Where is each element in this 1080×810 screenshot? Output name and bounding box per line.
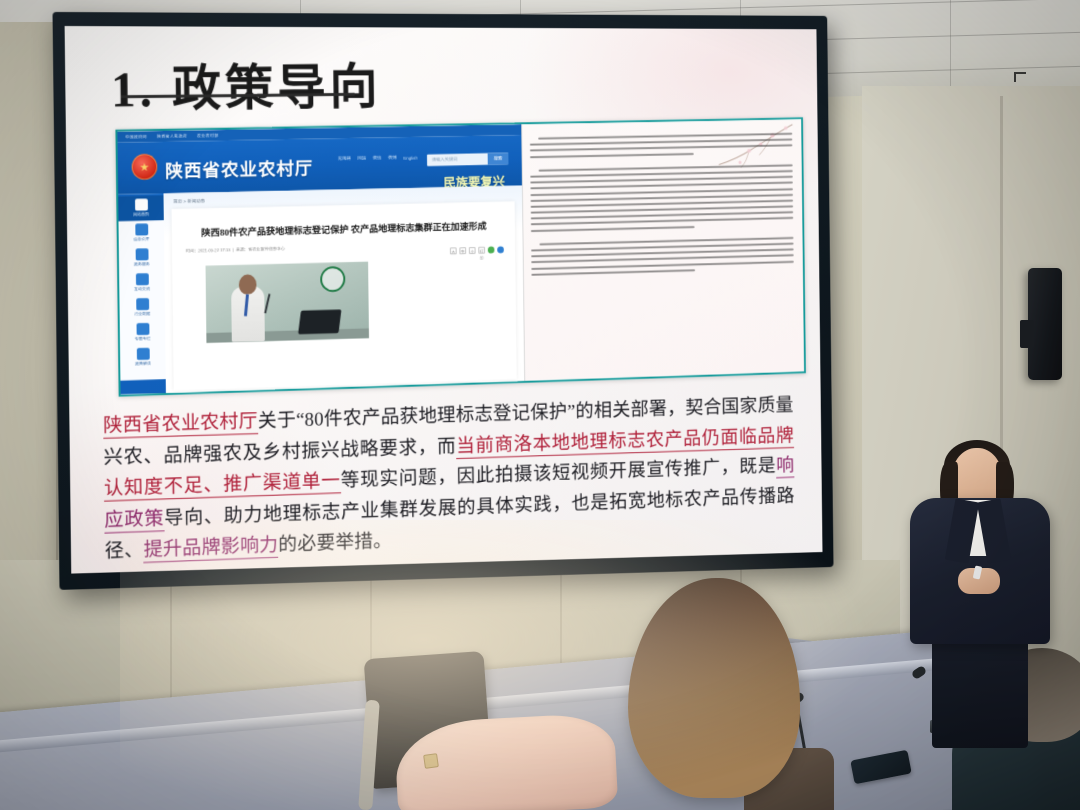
- article-photo: [206, 261, 369, 343]
- sidebar-item-home[interactable]: 网站首页: [118, 195, 164, 221]
- slide-text-segment-3: 等现实问题，因此拍摄该短视频开展宣传推广，既是: [341, 456, 777, 491]
- site-sidebar-nav: 网站首页 信息公开 政务服务: [118, 193, 166, 394]
- article-region: 首页 > 新闻动态 陕西80件农产品获地理标志登记保护 农产品地理标志集群正在加…: [163, 186, 524, 393]
- nav-mini-3[interactable]: 微博: [388, 155, 397, 161]
- sidebar-item-industry-data[interactable]: 行业数据: [119, 295, 165, 321]
- sidebar-item-label: 行业数据: [134, 311, 150, 317]
- folder-icon: [136, 323, 149, 335]
- topbar-link-1[interactable]: 陕西省人民政府: [157, 133, 187, 140]
- home-icon: [135, 199, 148, 211]
- ceiling-hook-icon: [1014, 72, 1026, 82]
- nav-mini-0[interactable]: 无障碍: [338, 156, 351, 162]
- article-source: 省农业宣传信息中心: [248, 246, 285, 252]
- sidebar-item-services[interactable]: 政务服务: [119, 245, 165, 271]
- sidebar-item-label: 政务服务: [134, 261, 150, 267]
- conference-room-scene: 1. 政策导向 中国政府网 陕西省人民政府 农业农村部: [0, 0, 1080, 810]
- font-size-medium-button[interactable]: 中: [459, 247, 466, 254]
- sidebar-item-topics[interactable]: 专题专栏: [120, 319, 166, 345]
- sidebar-item-label: 互动交流: [134, 286, 150, 292]
- sidebar-item-info-disclosure[interactable]: 信息公开: [118, 220, 164, 246]
- slide-body-text: 陕西省农业农村厅关于“80件农产品获地理标志登记保护”的相关部署，契合国家质量兴…: [103, 391, 795, 569]
- article-card: 陕西80件农产品获地理标志登记保护 农产品地理标志集群正在加速形成 时间：202…: [172, 201, 517, 390]
- attendee-hair: [628, 578, 800, 798]
- wall-display[interactable]: 1. 政策导向 中国政府网 陕西省人民政府 农业农村部: [52, 12, 833, 590]
- sidebar-item-label: 网站首页: [133, 212, 149, 218]
- website-left-column: 中国政府网 陕西省人民政府 农业农村部 陕西省农业农村厅 无障碍 网站: [117, 124, 524, 394]
- article-date-label: 时间：: [186, 248, 198, 253]
- slide-heading-wrap: 1. 政策导向: [110, 48, 381, 120]
- embedded-website-screenshot: 中国政府网 陕西省人民政府 农业农村部 陕西省农业农村厅 无障碍 网站: [115, 117, 805, 396]
- site-header: 陕西省农业农村厅 无障碍 网站 微信 微博 English 请输入关键词: [118, 135, 522, 194]
- speaker-head: [239, 274, 257, 294]
- page-title: 1. 政策导向: [110, 48, 381, 122]
- coat-tag: [423, 753, 439, 769]
- article-title: 陕西80件农产品获地理标志登记保护 农产品地理标志集群正在加速形成: [184, 221, 504, 242]
- wechat-icon[interactable]: [488, 247, 495, 254]
- nav-mini-4[interactable]: English: [403, 155, 417, 160]
- site-utility-nav: 无障碍 网站 微信 微博 English: [338, 155, 418, 162]
- article-date: 2021-09-22 17:13: [198, 248, 230, 254]
- laptop-icon: [298, 309, 341, 334]
- sidebar-item-label: 专题专栏: [135, 336, 151, 342]
- document-icon: [135, 224, 148, 236]
- site-search-box[interactable]: 请输入关键词 搜索: [427, 153, 509, 166]
- sidebar-item-label: 信息公开: [133, 236, 149, 242]
- article-source-label: 来源：: [236, 247, 248, 252]
- nav-mini-1[interactable]: 网站: [357, 156, 366, 162]
- sidebar-item-policy-interpretation[interactable]: 政策解读: [120, 344, 166, 370]
- topbar-link-2[interactable]: 农业农村部: [197, 132, 219, 138]
- print-button[interactable]: 打印: [478, 247, 485, 254]
- font-size-large-button[interactable]: 大: [450, 247, 457, 254]
- font-size-small-button[interactable]: 小: [469, 247, 476, 254]
- attendee-long-hair: [628, 578, 808, 810]
- briefcase-icon: [135, 248, 148, 260]
- microphone-icon: [264, 294, 270, 314]
- national-emblem-icon: [132, 154, 158, 180]
- book-icon: [136, 348, 149, 360]
- grid-icon: [136, 298, 149, 310]
- slide-text-segment-7: 的必要举措。: [278, 531, 392, 556]
- presenter-skirt: [932, 638, 1028, 748]
- breadcrumb[interactable]: 首页 > 新闻动态: [173, 198, 205, 205]
- presenter: [896, 440, 1080, 740]
- slide-text-segment-0: 陕西省农业农村厅: [103, 411, 258, 439]
- sidebar-item-interaction[interactable]: 互动交流: [119, 270, 165, 296]
- search-input-placeholder[interactable]: 请输入关键词: [427, 157, 457, 163]
- conference-logo-icon: [320, 266, 345, 292]
- article-toolbar: 大 中 小 打印: [450, 246, 504, 254]
- search-button[interactable]: 搜索: [488, 153, 509, 165]
- site-title: 陕西省农业农村厅: [165, 155, 313, 184]
- website-right-column: [521, 119, 804, 381]
- article-body-text: [530, 133, 794, 280]
- weibo-icon[interactable]: [497, 246, 504, 253]
- slide-text-segment-6: 提升品牌影响力: [143, 535, 278, 563]
- chat-icon: [135, 273, 148, 285]
- speaker-bracket: [1020, 320, 1034, 348]
- nav-mini-2[interactable]: 微信: [373, 155, 382, 161]
- topbar-link-0[interactable]: 中国政府网: [125, 133, 147, 139]
- presentation-slide: 1. 政策导向 中国政府网 陕西省人民政府 农业农村部: [65, 26, 823, 574]
- sidebar-item-label: 政策解读: [135, 361, 151, 367]
- display-screen: 1. 政策导向 中国政府网 陕西省人民政府 农业农村部: [65, 26, 823, 574]
